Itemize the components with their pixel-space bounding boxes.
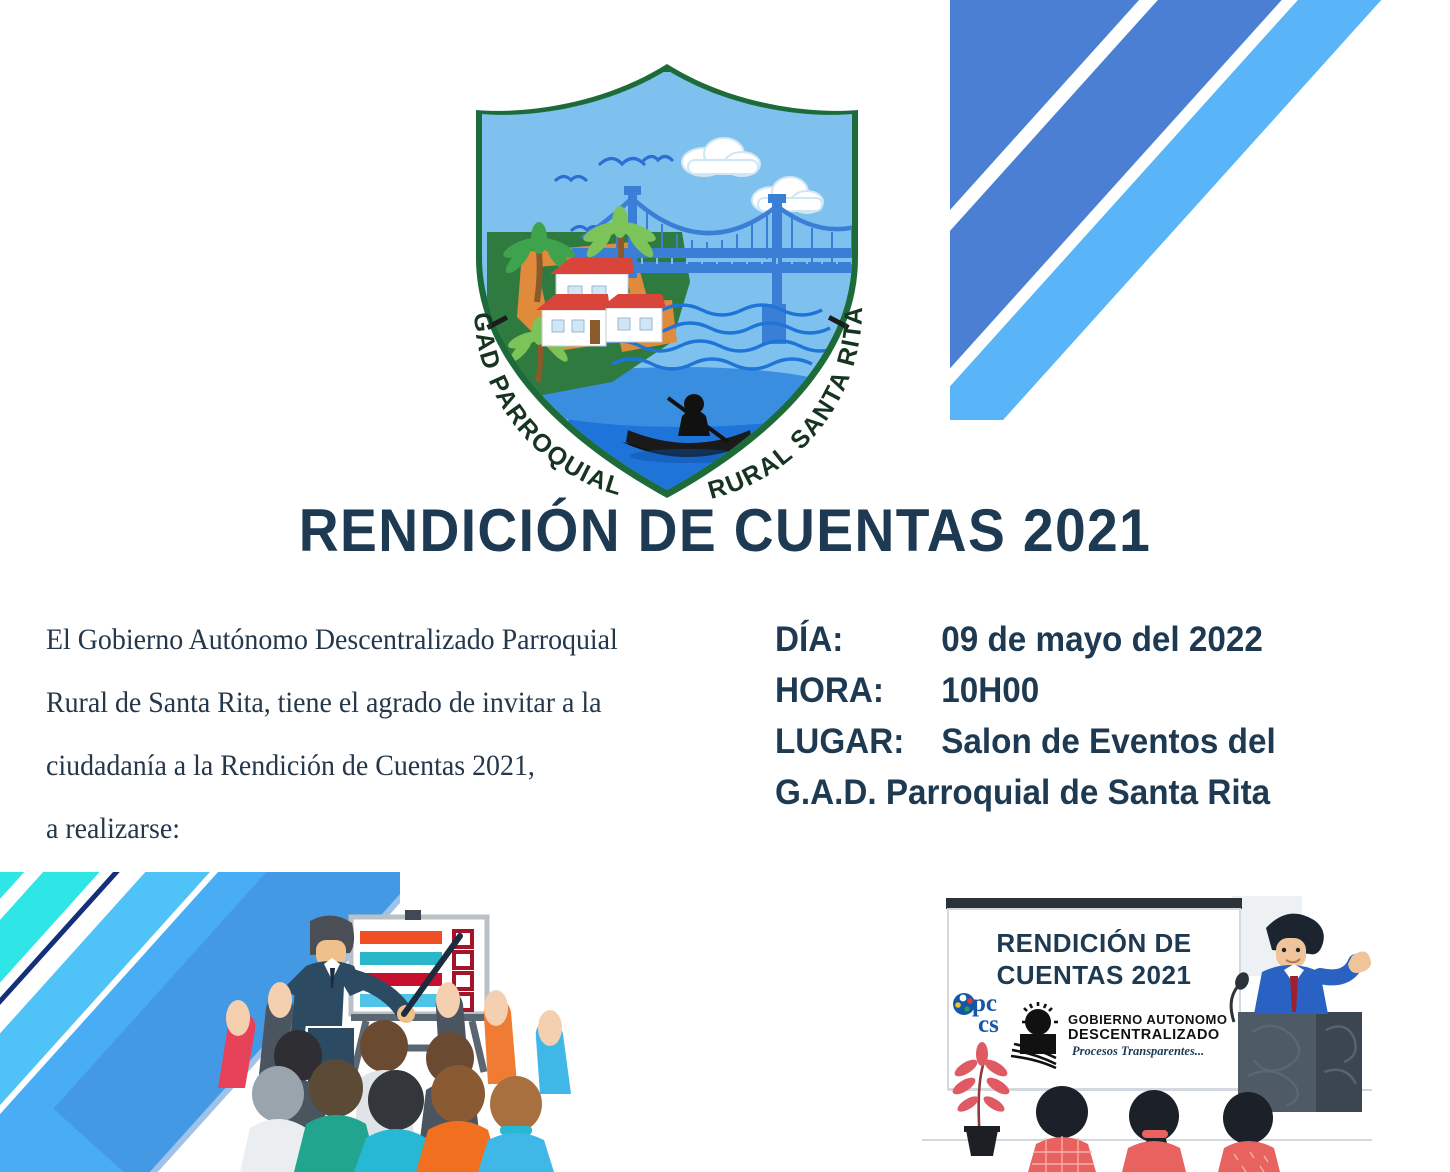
- gad-santa-rita-emblem: GAD PARROQUIAL RURAL SANTA RITA: [432, 52, 902, 512]
- day-label: DÍA:: [775, 614, 941, 665]
- chart-bar-cyan: [360, 952, 442, 965]
- conference-screen-illustration: RENDICIÓN DE CUENTAS 2021 pc cs: [922, 872, 1372, 1172]
- house-3: [600, 294, 666, 342]
- emblem-svg: GAD PARROQUIAL RURAL SANTA RITA: [432, 52, 902, 512]
- place-value: Salon de Eventos del: [941, 716, 1364, 767]
- event-details-block: DÍA: 09 de mayo del 2022 HORA: 10H00 LUG…: [775, 614, 1364, 818]
- stripe-light-blue-2: [950, 0, 1450, 420]
- time-label: HORA:: [775, 665, 941, 716]
- invitation-line-2: Rural de Santa Rita, tiene el agrado de …: [46, 671, 688, 734]
- detail-row-place: LUGAR: Salon de Eventos del: [775, 716, 1364, 767]
- gov-logo-line2: DESCENTRALIZADO: [1068, 1027, 1220, 1043]
- invitation-line-1: El Gobierno Autónomo Descentralizado Par…: [46, 608, 688, 671]
- speaker-hand: [1348, 951, 1371, 973]
- presentation-audience-svg: [188, 888, 618, 1172]
- day-value: 09 de mayo del 2022: [941, 614, 1364, 665]
- place-value-continued: G.A.D. Parroquial de Santa Rita: [775, 767, 1364, 818]
- stripe-medium-blue-2: [950, 0, 1450, 420]
- seated-audience: [1028, 1086, 1280, 1172]
- invitation-paragraph: El Gobierno Autónomo Descentralizado Par…: [46, 608, 688, 860]
- stripe-navy-line: [950, 0, 1387, 365]
- invitation-line-3: ciudadanía a la Rendición de Cuentas 202…: [46, 734, 688, 797]
- gov-logo-line1: GOBIERNO AUTONOMO: [1068, 1012, 1227, 1027]
- time-value: 10H00: [941, 665, 1364, 716]
- cpccs-text-cs: cs: [978, 1011, 999, 1038]
- seated-person-2: [1122, 1090, 1186, 1172]
- gov-logo-tagline: Procesos Transparentes...: [1072, 1044, 1204, 1058]
- slide-title-line2: CUENTAS 2021: [997, 960, 1192, 990]
- page-title: RENDICIÓN DE CUENTAS 2021: [58, 496, 1392, 565]
- house-2: [536, 294, 610, 346]
- invitation-line-4: a realizarse:: [46, 797, 688, 860]
- stripe-medium-blue-1: [950, 0, 1450, 420]
- speaker-face: [1276, 938, 1306, 968]
- detail-row-day: DÍA: 09 de mayo del 2022: [775, 614, 1364, 665]
- top-right-stripes-decoration: [950, 0, 1450, 420]
- stripe-light-blue-1: [950, 0, 1378, 357]
- chart-bar-orange: [360, 931, 442, 944]
- slide-title-line1: RENDICIÓN DE: [996, 928, 1191, 958]
- plant-pot: [966, 1130, 998, 1156]
- poster-canvas: GAD PARROQUIAL RURAL SANTA RITA RENDICIÓ…: [0, 0, 1450, 1172]
- detail-row-time: HORA: 10H00: [775, 665, 1364, 716]
- presentation-audience-illustration: [188, 888, 618, 1172]
- seated-person-1: [1028, 1086, 1096, 1172]
- place-label: LUGAR:: [775, 716, 941, 767]
- top-right-stripes-svg: [950, 0, 1450, 420]
- screen-top-bar: [946, 898, 1242, 909]
- conference-screen-svg: RENDICIÓN DE CUENTAS 2021 pc cs: [922, 872, 1372, 1172]
